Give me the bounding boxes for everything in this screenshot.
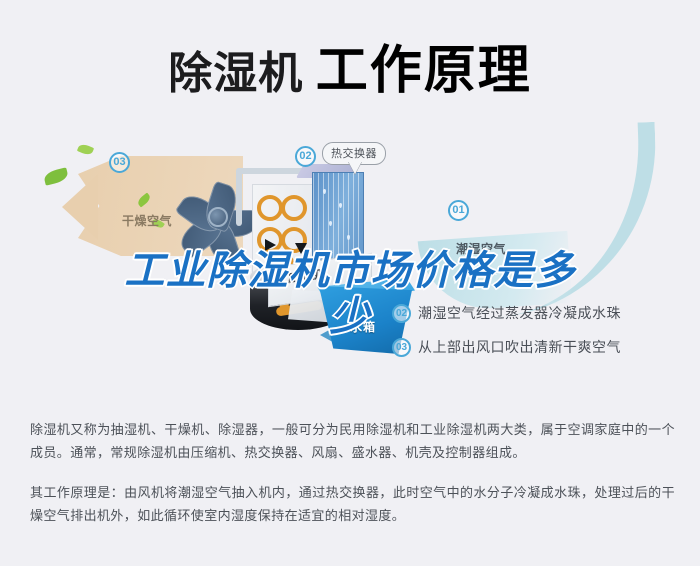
step-badge-02: 02 xyxy=(295,146,316,167)
coil-loop xyxy=(281,195,307,221)
leaf-icon xyxy=(77,143,94,157)
callout-pointer-icon xyxy=(348,161,362,174)
principle-legend-list: 01 潮湿空气由下部进风口吸入机内 02 潮湿空气经过蒸发器冷凝成水珠 03 从… xyxy=(392,262,662,364)
paragraph-1: 除湿机又称为抽湿机、干燥机、除湿器，一般可分为民用除湿机和工业除湿机两大类，属于… xyxy=(30,418,675,464)
legend-badge-02: 02 xyxy=(392,304,411,323)
legend-text-03: 从上部出风口吹出清新干爽空气 xyxy=(418,337,621,357)
dry-air-arrow-notch xyxy=(62,174,98,240)
article-body: 除湿机又称为抽湿机、干燥机、除湿器，一般可分为民用除湿机和工业除湿机两大类，属于… xyxy=(30,418,675,527)
coil-loop xyxy=(257,195,283,221)
page-title-secondary: 工作原理 xyxy=(316,42,532,100)
list-item: 03 从上部出风口吹出清新干爽空气 xyxy=(392,330,662,364)
leaf-icon xyxy=(43,167,69,185)
water-droplet-icon xyxy=(339,203,342,208)
water-tank-label: 水箱 xyxy=(350,318,376,335)
humid-air-label: 潮湿空气 xyxy=(456,240,506,257)
flow-arrow-down-icon xyxy=(295,243,307,254)
water-droplet-icon xyxy=(325,251,328,256)
legend-badge-03: 03 xyxy=(392,338,411,357)
page-title-primary: 除湿机 xyxy=(168,49,303,98)
refrigerant-pipe xyxy=(236,168,306,174)
list-item: 01 潮湿空气由下部进风口吸入机内 xyxy=(392,262,662,296)
flow-arrow-right-icon xyxy=(265,239,276,251)
water-droplet-icon xyxy=(323,189,326,194)
step-badge-01: 01 xyxy=(448,200,469,221)
list-item: 02 潮湿空气经过蒸发器冷凝成水珠 xyxy=(392,296,662,330)
legend-text-02: 潮湿空气经过蒸发器冷凝成水珠 xyxy=(418,303,621,323)
refrigerant-pipe xyxy=(236,168,242,226)
water-droplet-icon xyxy=(347,235,350,240)
paragraph-2: 其工作原理是：由风机将潮湿空气抽入机内，通过热交换器，此时空气中的水分子冷凝成水… xyxy=(30,481,675,527)
dry-air-label: 干燥空气 xyxy=(122,212,172,229)
fan-hub xyxy=(208,207,228,227)
page-title: 除湿机 工作原理 xyxy=(0,28,700,103)
water-droplet-icon xyxy=(329,221,332,226)
step-badge-03: 03 xyxy=(109,152,130,173)
